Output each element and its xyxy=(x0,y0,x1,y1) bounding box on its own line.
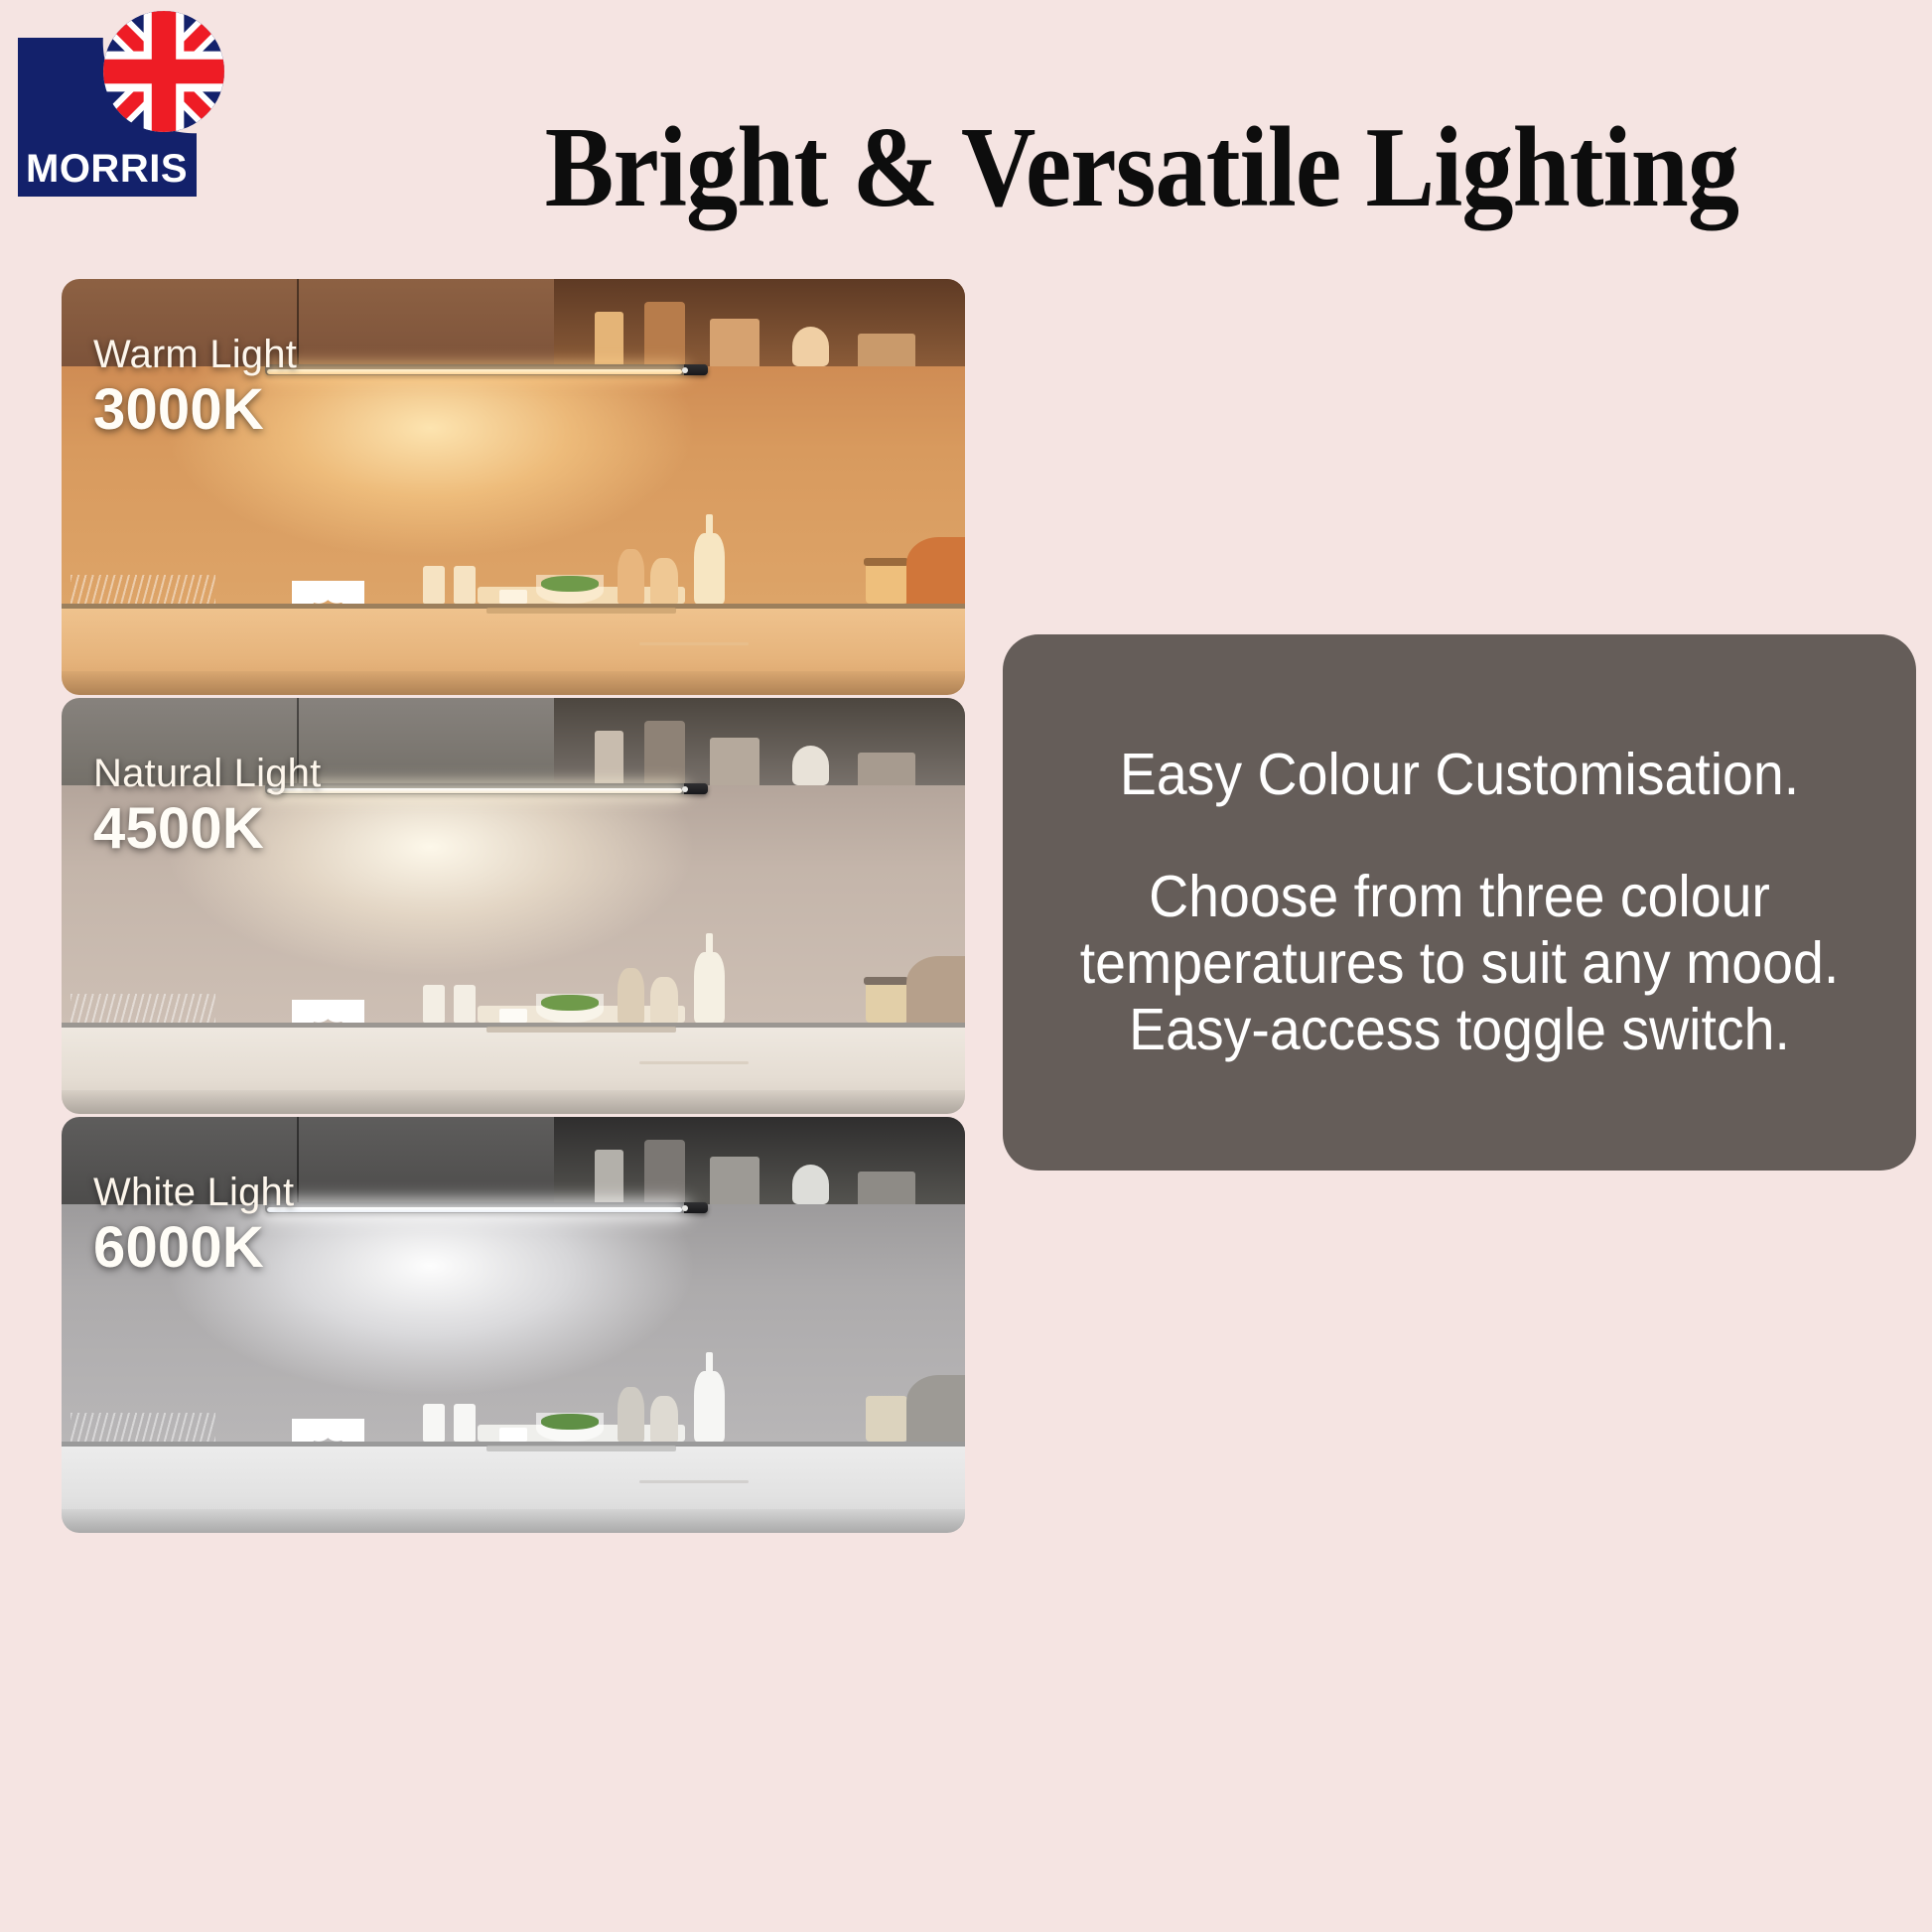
uk-flag-icon xyxy=(103,11,224,132)
oil-bottle xyxy=(694,1371,725,1442)
led-light-bar xyxy=(265,364,708,375)
countertop xyxy=(62,604,965,695)
spice-jar xyxy=(423,566,445,604)
utensils xyxy=(639,1480,748,1483)
feature-info-card: Easy Colour Customisation. Choose from t… xyxy=(1003,634,1916,1171)
cutting-board-shadow xyxy=(486,1027,676,1034)
led-light-bar xyxy=(265,1202,708,1213)
led-light-bar xyxy=(265,783,708,794)
panel-kelvin-value: 4500K xyxy=(93,800,321,858)
pasta-jar xyxy=(866,977,907,1023)
lighting-panel-white: White Light 6000K xyxy=(62,1117,965,1533)
spice-jar xyxy=(454,985,476,1023)
brand-name: MORRIS xyxy=(26,149,195,189)
panel-kelvin-value: 3000K xyxy=(93,381,297,439)
panel-light-name: Natural Light xyxy=(93,754,321,793)
small-cup xyxy=(499,1428,526,1441)
utensils xyxy=(639,642,748,645)
salad-bowl xyxy=(536,575,604,604)
lighting-panel-natural: Natural Light 4500K xyxy=(62,698,965,1114)
spice-jar xyxy=(423,985,445,1023)
oil-bottle xyxy=(694,533,725,604)
panel-caption: White Light 6000K xyxy=(93,1173,294,1277)
panel-caption: Natural Light 4500K xyxy=(93,754,321,858)
open-shelf xyxy=(554,698,965,785)
cutting-board-shadow xyxy=(486,1446,676,1452)
panel-caption: Warm Light 3000K xyxy=(93,335,297,439)
spice-jar xyxy=(454,1404,476,1442)
bread-box xyxy=(906,956,965,1023)
countertop xyxy=(62,1442,965,1533)
dish-rack xyxy=(70,1413,215,1442)
egg-tray xyxy=(292,1419,364,1442)
cutting-board-shadow xyxy=(486,608,676,615)
lighting-panel-warm: Warm Light 3000K xyxy=(62,279,965,695)
spice-jar xyxy=(454,566,476,604)
pasta-jar xyxy=(866,558,907,604)
panel-kelvin-value: 6000K xyxy=(93,1219,294,1277)
salt-mill xyxy=(650,1396,677,1442)
bread-box xyxy=(906,1375,965,1442)
pepper-mill xyxy=(618,1387,644,1441)
bread-box xyxy=(906,537,965,604)
page-title: Bright & Versatile Lighting xyxy=(445,99,1839,238)
dish-rack xyxy=(70,994,215,1023)
oil-bottle xyxy=(694,952,725,1023)
egg-tray xyxy=(292,581,364,604)
brand-logo: MORRIS xyxy=(18,38,231,197)
utensils xyxy=(639,1061,748,1064)
countertop xyxy=(62,1023,965,1114)
salt-mill xyxy=(650,977,677,1023)
open-shelf xyxy=(554,1117,965,1204)
pepper-mill xyxy=(618,549,644,603)
salt-mill xyxy=(650,558,677,604)
small-cup xyxy=(499,1009,526,1022)
salad-bowl xyxy=(536,994,604,1023)
egg-tray xyxy=(292,1000,364,1023)
small-cup xyxy=(499,590,526,603)
spice-jar xyxy=(423,1404,445,1442)
info-card-body: Choose from three colour temperatures to… xyxy=(1062,864,1858,1064)
dish-rack xyxy=(70,575,215,604)
open-shelf xyxy=(554,279,965,366)
pasta-jar xyxy=(866,1396,907,1442)
pepper-mill xyxy=(618,968,644,1022)
info-card-heading: Easy Colour Customisation. xyxy=(1120,742,1799,808)
panel-light-name: Warm Light xyxy=(93,335,297,374)
panel-light-name: White Light xyxy=(93,1173,294,1212)
salad-bowl xyxy=(536,1413,604,1442)
